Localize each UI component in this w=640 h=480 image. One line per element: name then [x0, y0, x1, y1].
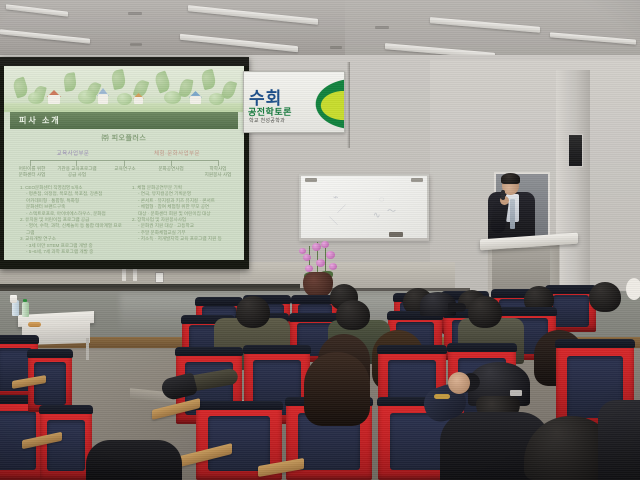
- seat-top-cap: [555, 339, 635, 348]
- ceiling-fixture-mark: [375, 26, 389, 29]
- house-body: [190, 96, 201, 104]
- leaf-icon: [153, 70, 172, 93]
- whiteboard-erased-mark: ～: [387, 204, 396, 217]
- whiteboard-clip: [305, 178, 317, 182]
- bush-icon: [28, 92, 44, 104]
- leaf-icon: [11, 76, 29, 98]
- audience-long-hair: [304, 352, 370, 426]
- orchid-bloom: [305, 265, 313, 272]
- slide-bullet: - 5~6세, 7세 과학 프로그램 개발 중: [20, 249, 126, 255]
- microphone[interactable]: [501, 190, 505, 200]
- presenter-tie: [510, 199, 515, 229]
- org-node: 문화공연사업: [150, 166, 192, 172]
- baseball-cap-brim: [448, 303, 466, 312]
- leaf-icon: [110, 69, 127, 90]
- projection-screen-roller: [0, 57, 249, 66]
- org-chart-title: ㈜ 피오플러스: [8, 133, 240, 143]
- whiteboard-erased-mark: ／: [337, 202, 346, 215]
- slide-title: 피사 소개: [19, 115, 61, 126]
- leaf-icon: [200, 69, 217, 91]
- org-node: 교육연구소: [104, 166, 146, 172]
- ceiling-fixture-mark: [130, 43, 142, 46]
- banner-pole: [347, 62, 350, 148]
- house-body: [134, 97, 143, 104]
- green-banner: 수회 공전학토론 학교 천성공학과: [243, 71, 345, 133]
- house-body: [48, 95, 60, 104]
- slide-body: ㈜ 피오플러스 교육사업부문 체험·문화사업부문 어린이를 위한 문화센터 사업…: [8, 131, 240, 257]
- org-node-label: 교육연구소: [114, 166, 135, 171]
- org-node-label: 기관용 교육프로그램 공급 사업: [57, 166, 96, 177]
- water-bottle[interactable]: [22, 302, 29, 317]
- foreground-white-object: [626, 278, 640, 300]
- orchid-bloom: [329, 263, 337, 270]
- org-node: 어린이를 위한 문화센터 사업: [10, 166, 54, 178]
- whiteboard-erased-mark: ∿: [373, 210, 381, 221]
- audience-head: [336, 300, 370, 330]
- slide-bullet: 1. CEO문화센터 직영점영 5개소: [20, 185, 82, 190]
- org-node-label: 문화공연사업: [158, 166, 183, 171]
- orchid-bloom: [303, 254, 311, 261]
- whiteboard: ⌁ ／ ＼ ◌ ～ ∿: [299, 174, 429, 240]
- bush-icon: [117, 93, 132, 105]
- whiteboard-erased-mark: ◌: [379, 194, 384, 204]
- audience-shoulder: [86, 440, 182, 480]
- seat-top-cap: [377, 345, 447, 354]
- bush-icon: [164, 91, 181, 104]
- slide-bullet: - 영어, 수학, 과학, 신체놀이 등 통합 테마계열 프로그램: [20, 223, 126, 236]
- slide-title-bar: 피사 소개: [10, 112, 238, 129]
- seat-top-cap: [195, 297, 243, 306]
- slide-bullet: 3. 교육개발 연구소: [20, 236, 56, 241]
- projected-slide: 피사 소개 ㈜ 피오플러스 교육사업부문 체험·문화사업부문 어린이를 위한 문…: [4, 66, 244, 260]
- ceiling-fixture-mark: [128, 12, 142, 15]
- wall-pillar: [556, 70, 590, 320]
- ceiling-fixture-mark: [330, 46, 342, 49]
- audience-shoulder: [598, 400, 640, 480]
- orchid-bloom: [326, 251, 335, 259]
- slide-bullet: 2. 유치원 및 어린이집 프로그램 공급: [20, 217, 89, 222]
- orchid-bloom: [316, 259, 325, 267]
- leaf-icon: [63, 72, 77, 91]
- org-group-label-left: 교육사업부문: [38, 149, 108, 157]
- house-icon: [134, 93, 143, 104]
- whiteboard-clip: [411, 178, 423, 182]
- presenter-hair: [501, 173, 520, 184]
- seat-top-cap: [27, 349, 73, 358]
- wall-outlet[interactable]: [155, 272, 164, 283]
- whiteboard-erased-mark: ＼: [329, 214, 338, 227]
- audience-head: [468, 296, 502, 328]
- orchid-bloom: [321, 241, 329, 248]
- paper-cup[interactable]: [10, 295, 17, 303]
- slide-hero-image: [4, 66, 244, 112]
- org-node-label: 학학사업 지원봉사 사업: [205, 166, 232, 177]
- banner-small-text: 학교 천성공학과: [249, 117, 285, 124]
- house-icon: [190, 91, 201, 104]
- seat-top-cap: [0, 335, 39, 344]
- wall-speaker: [568, 134, 583, 167]
- house-icon: [48, 90, 60, 104]
- house-icon: [98, 88, 108, 104]
- seat-top-cap: [195, 401, 283, 410]
- wall-pipe: [133, 268, 137, 281]
- bush-icon: [78, 90, 96, 104]
- seat-top-cap: [243, 345, 311, 354]
- slide-bullet-column-right: 1. 체험 문화공연부문 기획 - 연극, 뮤지컬공연 기획운영 - 콘서트 ·…: [132, 185, 236, 243]
- lecture-hall-photo: 피사 소개 ㈜ 피오플러스 교육사업부문 체험·문화사업부문 어린이를 위한 문…: [0, 0, 640, 480]
- seat-top-cap: [175, 347, 243, 356]
- slide-bullet: 1. 체험 문화공연부문 기획: [132, 185, 182, 190]
- seat-pad: [553, 295, 589, 327]
- bottle-cap: [23, 299, 27, 302]
- snack-plate: [28, 322, 41, 327]
- seat-top-cap: [447, 343, 517, 352]
- slide-bullet: 2. 장학사업 및 자원봉사사업: [132, 217, 186, 222]
- wall-pipe: [122, 268, 126, 281]
- org-node: 기관용 교육프로그램 공급 사업: [54, 166, 100, 178]
- audience-head: [589, 282, 621, 312]
- orchid-bloom: [312, 243, 321, 251]
- seat-pad: [208, 416, 270, 471]
- slide-bullet: - 저소득 · 저개발지역 교육 프로그램 지원 등: [132, 236, 236, 242]
- seat-top-cap: [39, 405, 93, 414]
- wrist-band: [434, 394, 450, 399]
- bush-icon: [209, 93, 224, 105]
- table-leg: [86, 338, 89, 360]
- audience-head: [236, 296, 270, 328]
- org-node: 학학사업 지원봉사 사업: [196, 166, 240, 178]
- seat-top-cap: [499, 307, 557, 316]
- seat-pad: [47, 420, 84, 472]
- orchid-bloom: [299, 248, 306, 254]
- slide-bullet-column-left: 1. CEO문화센터 직영점영 5개소 - 평촌점, 의정점, 목포점, 목포점…: [20, 185, 126, 255]
- org-node-label: 어린이를 위한 문화센터 사업: [19, 166, 46, 177]
- seat[interactable]: [40, 408, 92, 480]
- house-body: [98, 94, 108, 104]
- audience-hand: [448, 372, 470, 394]
- org-group-label-right: 체험·문화사업부문: [140, 149, 214, 157]
- whiteboard-marker-tray: [389, 232, 403, 237]
